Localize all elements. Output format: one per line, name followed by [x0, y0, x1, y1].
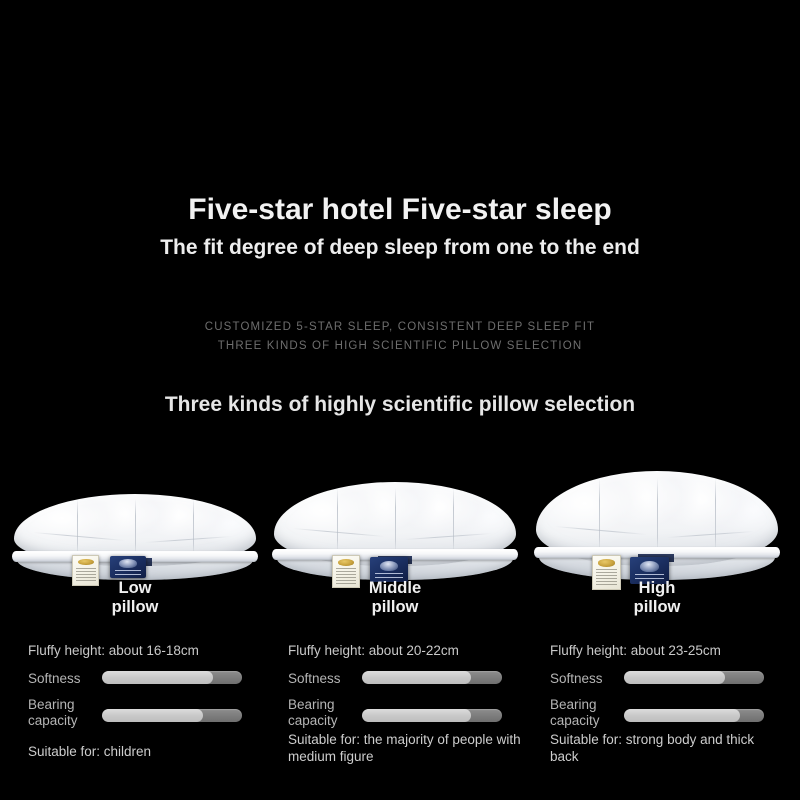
pillow-name-line-1: Middle: [266, 579, 524, 598]
pillow-name-line-2: pillow: [6, 598, 264, 617]
pillow-name-high: High pillow: [528, 579, 786, 617]
pillow-crease: [555, 526, 647, 535]
brand-logo-icon: [598, 559, 615, 566]
quilt-seam: [599, 478, 600, 552]
quilt-seam: [135, 499, 136, 555]
section-heading: Three kinds of highly scientific pillow …: [0, 393, 800, 417]
tagline-line-1: CUSTOMIZED 5-STAR SLEEP, CONSISTENT DEEP…: [0, 318, 800, 337]
spec-row-softness: Softness: [288, 667, 524, 697]
quilt-seam: [453, 488, 454, 554]
softness-bar-fill: [624, 671, 725, 684]
pillow-image-low: [6, 460, 264, 580]
spec-label-softness: Softness: [550, 671, 620, 687]
promo-banner: Five-star hotel Five-star sleep The fit …: [0, 0, 800, 800]
suitable-for-high: Suitable for: strong body and thick back: [550, 731, 786, 765]
spec-label-softness: Softness: [28, 671, 98, 687]
spec-bars-high: Softness Bearing capacity: [550, 667, 786, 731]
spec-label-softness: Softness: [288, 671, 358, 687]
pillow-crease: [667, 531, 754, 538]
spec-bars-middle: Softness Bearing capacity: [288, 667, 524, 731]
quilt-seam: [715, 478, 716, 552]
pillow-image-high: [528, 460, 786, 580]
spec-row-bearing-capacity: Bearing capacity: [288, 697, 524, 731]
brand-crest-icon: [640, 561, 659, 572]
pillow-name-low: Low pillow: [6, 579, 264, 617]
quilt-seam: [77, 499, 78, 555]
brand-logo-icon: [338, 559, 355, 566]
spec-label-line-2: capacity: [288, 713, 358, 729]
pillow-name-line-1: Low: [6, 579, 264, 598]
spec-label-line-2: capacity: [550, 713, 620, 729]
pillow-crease: [293, 528, 385, 537]
fluffy-height-high: Fluffy height: about 23-25cm: [550, 643, 721, 658]
softness-bar-fill: [102, 671, 213, 684]
quilt-seam: [193, 499, 194, 555]
bearing-capacity-bar-fill: [102, 709, 203, 722]
softness-bar-track: [102, 671, 242, 684]
quilt-seam: [395, 488, 396, 554]
bearing-capacity-bar-track: [624, 709, 764, 722]
spec-row-bearing-capacity: Bearing capacity: [28, 697, 264, 731]
tagline-line-2: THREE KINDS OF HIGH SCIENTIFIC PILLOW SE…: [0, 337, 800, 356]
pillow-name-line-2: pillow: [528, 598, 786, 617]
pillow-crease: [145, 536, 232, 543]
fluffy-height-middle: Fluffy height: about 20-22cm: [288, 643, 459, 658]
spec-label-bearing-capacity: Bearing capacity: [550, 697, 620, 729]
headline-block: Five-star hotel Five-star sleep The fit …: [0, 192, 800, 262]
pillow-column-high: High pillow Fluffy height: about 23-25cm…: [528, 455, 786, 800]
spec-row-softness: Softness: [28, 667, 264, 697]
brand-crest-icon: [380, 561, 398, 571]
spec-label-line-2: capacity: [28, 713, 98, 729]
spec-label-bearing-capacity: Bearing capacity: [288, 697, 358, 729]
quilt-seam: [657, 478, 658, 552]
spec-label-bearing-capacity: Bearing capacity: [28, 697, 98, 729]
spec-row-softness: Softness: [550, 667, 786, 697]
page-title: Five-star hotel Five-star sleep: [0, 192, 800, 228]
fluffy-height-low: Fluffy height: about 16-18cm: [28, 643, 199, 658]
pillow-comparison-grid: Low pillow Fluffy height: about 16-18cm …: [0, 455, 800, 800]
bearing-capacity-bar-track: [362, 709, 502, 722]
pillow-crease: [33, 532, 125, 541]
pillow-column-low: Low pillow Fluffy height: about 16-18cm …: [6, 455, 264, 800]
pillow-name-line-2: pillow: [266, 598, 524, 617]
spec-label-line-1: Bearing: [550, 697, 620, 713]
quilt-seam: [337, 488, 338, 554]
hang-tag-text-lines: [115, 570, 141, 576]
pillow-hang-tag: [110, 556, 146, 578]
softness-bar-track: [362, 671, 502, 684]
pillow-name-middle: Middle pillow: [266, 579, 524, 617]
spec-label-line-1: Bearing: [28, 697, 98, 713]
spec-label-line-1: Bearing: [288, 697, 358, 713]
tagline-block: CUSTOMIZED 5-STAR SLEEP, CONSISTENT DEEP…: [0, 318, 800, 356]
spec-row-bearing-capacity: Bearing capacity: [550, 697, 786, 731]
suitable-for-low: Suitable for: children: [28, 743, 264, 760]
pillow-image-middle: [266, 460, 524, 580]
bearing-capacity-bar-track: [102, 709, 242, 722]
softness-bar-fill: [362, 671, 471, 684]
brand-crest-icon: [119, 559, 136, 568]
pillow-name-line-1: High: [528, 579, 786, 598]
suitable-for-middle: Suitable for: the majority of people wit…: [288, 731, 524, 765]
bearing-capacity-bar-fill: [624, 709, 740, 722]
page-subtitle: The fit degree of deep sleep from one to…: [0, 234, 800, 262]
pillow-column-middle: Middle pillow Fluffy height: about 20-22…: [266, 455, 524, 800]
softness-bar-track: [624, 671, 764, 684]
brand-logo-icon: [78, 559, 94, 565]
spec-bars-low: Softness Bearing capacity: [28, 667, 264, 731]
pillow-crease: [405, 533, 492, 540]
bearing-capacity-bar-fill: [362, 709, 471, 722]
